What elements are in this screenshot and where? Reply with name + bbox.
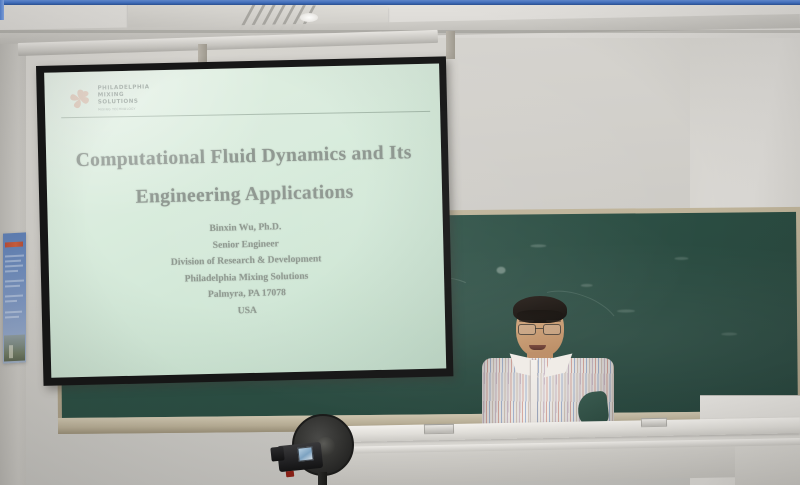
electric-fan: [292, 414, 354, 485]
presenter-hair: [513, 296, 567, 323]
logo-line-1: PHILADELPHIA: [97, 84, 149, 91]
presenter-mouth: [529, 345, 546, 350]
company-logo: PHILADELPHIA MIXING SOLUTIONS MIXING TEC…: [66, 84, 150, 112]
slide-author-block: Binxin Wu, Ph.D. Senior Engineer Divisio…: [48, 215, 445, 324]
fan-stem: [318, 472, 327, 485]
mixing-swirl-icon: [66, 86, 93, 113]
projection-screen: PHILADELPHIA MIXING SOLUTIONS MIXING TEC…: [36, 56, 453, 386]
podium-clip: [641, 418, 667, 427]
poster-photo: [4, 334, 25, 361]
wall-poster: [3, 232, 26, 363]
ceiling-light: [300, 13, 318, 22]
slide-surface: PHILADELPHIA MIXING SOLUTIONS MIXING TEC…: [44, 64, 446, 378]
window-title-bar: [0, 0, 800, 5]
camera-accent: [286, 471, 295, 478]
logo-tagline: MIXING TECHNOLOGY: [98, 106, 150, 111]
logo-line-2: MIXING: [98, 91, 150, 98]
glasses-lens: [518, 324, 536, 335]
slide-divider: [61, 111, 430, 118]
photograph: PHILADELPHIA MIXING SOLUTIONS MIXING TEC…: [0, 0, 800, 485]
glasses-bridge: [535, 328, 543, 329]
logo-line-3: SOLUTIONS: [98, 98, 150, 105]
glasses-lens: [543, 324, 561, 335]
slide-title: Computational Fluid Dynamics and Its Eng…: [46, 133, 443, 218]
poster-header: [5, 242, 23, 248]
camera-lens-icon: [270, 446, 284, 461]
podium-clip: [424, 424, 454, 435]
presenter-eyebrow: [519, 320, 534, 322]
camera-lcd-screen: [297, 446, 313, 461]
presenter-eyebrow: [546, 320, 561, 322]
window-left-edge: [0, 0, 4, 20]
podium-side-panel: [735, 443, 800, 485]
rail-bracket: [446, 31, 455, 59]
